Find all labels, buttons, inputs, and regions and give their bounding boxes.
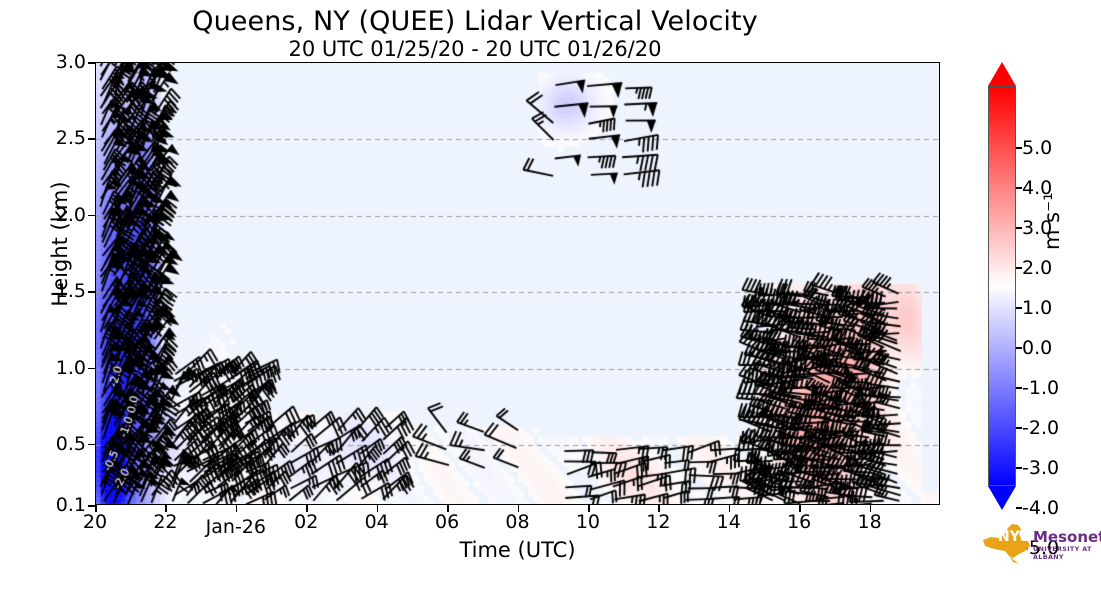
colorbar-tick-mark-2 xyxy=(1016,227,1022,229)
colorbar-tick-mark-7 xyxy=(1016,427,1022,429)
x-tick-label-7: 10 xyxy=(576,511,600,533)
nys-mesonet-logo: NYS Mesonet UNIVERSITY AT ALBANY xyxy=(975,520,1095,572)
x-tick-mark-7 xyxy=(588,505,590,512)
colorbar-tick-label-7: -2.0 xyxy=(1022,417,1059,439)
y-tick-label-1: 0.5 xyxy=(56,433,86,455)
lidar-vertical-velocity-canvas xyxy=(96,63,940,505)
x-tick-mark-3 xyxy=(306,505,308,512)
x-tick-label-4: 04 xyxy=(365,511,389,533)
x-tick-mark-11 xyxy=(870,505,872,512)
colorbar-tick-mark-1 xyxy=(1016,187,1022,189)
y-tick-mark-2 xyxy=(88,368,95,370)
x-tick-label-5: 06 xyxy=(435,511,459,533)
x-tick-mark-0 xyxy=(95,505,97,512)
colorbar-tick-label-6: -1.0 xyxy=(1022,377,1059,399)
y-tick-label-5: 2.5 xyxy=(56,127,86,149)
x-tick-label-11: 18 xyxy=(857,511,881,533)
x-tick-label-1: 22 xyxy=(153,511,177,533)
y-tick-mark-4 xyxy=(88,215,95,217)
y-axis-label: Height (km) xyxy=(48,154,72,334)
colorbar-tick-mark-3 xyxy=(1016,267,1022,269)
logo-university-text: UNIVERSITY AT ALBANY xyxy=(1033,545,1095,561)
y-tick-label-2: 1.0 xyxy=(56,357,86,379)
colorbar: 5.04.03.02.01.00.0-1.0-2.0-3.0-4.0-5.0 xyxy=(988,62,1024,508)
x-tick-label-10: 16 xyxy=(787,511,811,533)
x-tick-mark-5 xyxy=(447,505,449,512)
logo-mesonet-text: Mesonet xyxy=(1033,528,1101,546)
colorbar-tick-mark-4 xyxy=(1016,307,1022,309)
y-tick-mark-5 xyxy=(88,138,95,140)
y-tick-mark-6 xyxy=(88,62,95,64)
colorbar-tick-label-5: 0.0 xyxy=(1022,337,1052,359)
page-subtitle: 20 UTC 01/25/20 - 20 UTC 01/26/20 xyxy=(0,37,950,61)
colorbar-tick-mark-8 xyxy=(1016,467,1022,469)
colorbar-tick-mark-5 xyxy=(1016,347,1022,349)
colorbar-tick-label-0: 5.0 xyxy=(1022,137,1052,159)
colorbar-tick-mark-0 xyxy=(1016,147,1022,149)
colorbar-gradient xyxy=(988,86,1016,486)
y-tick-label-0: 0.1 xyxy=(56,494,86,516)
page-title: Queens, NY (QUEE) Lidar Vertical Velocit… xyxy=(0,6,950,37)
x-tick-label-3: 02 xyxy=(294,511,318,533)
x-tick-mark-10 xyxy=(799,505,801,512)
plot-area xyxy=(95,62,940,505)
logo-nys-text: NYS xyxy=(998,529,1030,545)
x-tick-mark-1 xyxy=(165,505,167,512)
colorbar-unit-label: m s⁻¹ xyxy=(1040,192,1064,250)
colorbar-extend-max-arrow xyxy=(988,62,1016,86)
y-axis-ticks: 0.10.51.01.52.02.53.0 xyxy=(0,0,86,600)
y-tick-mark-1 xyxy=(88,444,95,446)
x-tick-label-8: 12 xyxy=(646,511,670,533)
x-tick-mark-9 xyxy=(729,505,731,512)
colorbar-tick-mark-6 xyxy=(1016,387,1022,389)
colorbar-extend-min-arrow xyxy=(988,486,1016,510)
x-tick-mark-4 xyxy=(377,505,379,512)
x-tick-label-2: Jan-26 xyxy=(206,516,266,538)
x-tick-mark-2 xyxy=(236,505,238,512)
y-tick-label-6: 3.0 xyxy=(56,51,86,73)
colorbar-tick-label-4: 1.0 xyxy=(1022,297,1052,319)
colorbar-tick-label-9: -4.0 xyxy=(1022,497,1059,519)
y-tick-mark-3 xyxy=(88,291,95,293)
colorbar-tick-label-8: -3.0 xyxy=(1022,457,1059,479)
x-tick-label-0: 20 xyxy=(83,511,107,533)
x-axis-label: Time (UTC) xyxy=(95,538,940,562)
x-tick-label-9: 14 xyxy=(717,511,741,533)
x-tick-mark-6 xyxy=(518,505,520,512)
colorbar-tick-mark-9 xyxy=(1016,507,1022,509)
y-tick-mark-0 xyxy=(88,505,95,507)
x-tick-mark-8 xyxy=(658,505,660,512)
colorbar-tick-label-3: 2.0 xyxy=(1022,257,1052,279)
x-tick-label-6: 08 xyxy=(505,511,529,533)
